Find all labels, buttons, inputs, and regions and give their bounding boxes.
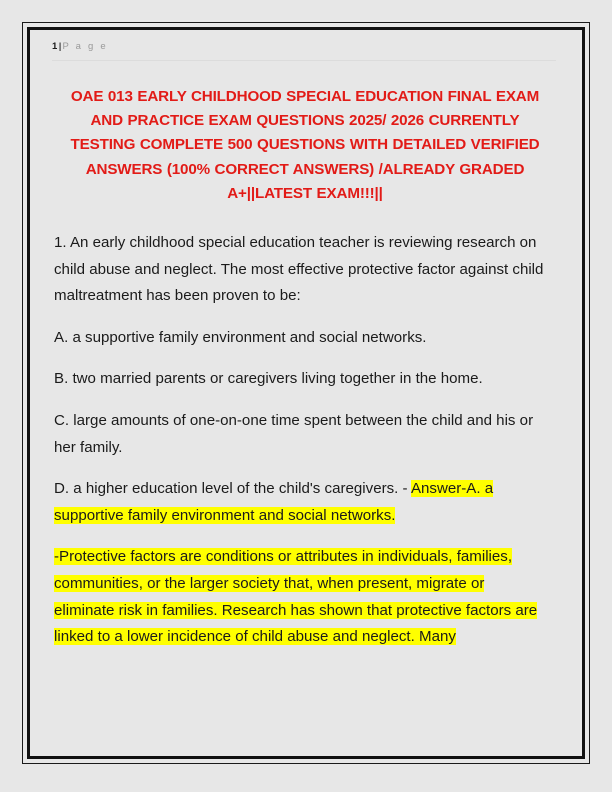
choice-d-and-answer: D. a higher education level of the child… bbox=[54, 476, 548, 529]
rationale-paragraph: -Protective factors are conditions or at… bbox=[54, 544, 548, 650]
document-body: 1. An early childhood special education … bbox=[54, 230, 548, 651]
question-stem: 1. An early childhood special education … bbox=[54, 230, 548, 310]
running-header: 1|P a g e bbox=[52, 40, 556, 61]
choice-b: B. two married parents or caregivers liv… bbox=[54, 366, 548, 393]
choice-c: C. large amounts of one-on-one time spen… bbox=[54, 408, 548, 461]
document-title: OAE 013 EARLY CHILDHOOD SPECIAL EDUCATIO… bbox=[70, 85, 540, 206]
page-content: 1|P a g e OAE 013 EARLY CHILDHOOD SPECIA… bbox=[30, 30, 582, 756]
page-number: 1 bbox=[52, 41, 58, 52]
rationale-highlight: -Protective factors are conditions or at… bbox=[54, 548, 537, 645]
page-header-label: P a g e bbox=[62, 41, 107, 52]
choice-d-text: D. a higher education level of the child… bbox=[54, 480, 408, 497]
choice-a: A. a supportive family environment and s… bbox=[54, 325, 548, 352]
page-border-outer: 1|P a g e OAE 013 EARLY CHILDHOOD SPECIA… bbox=[22, 22, 590, 764]
page-border-inner: 1|P a g e OAE 013 EARLY CHILDHOOD SPECIA… bbox=[27, 27, 585, 759]
